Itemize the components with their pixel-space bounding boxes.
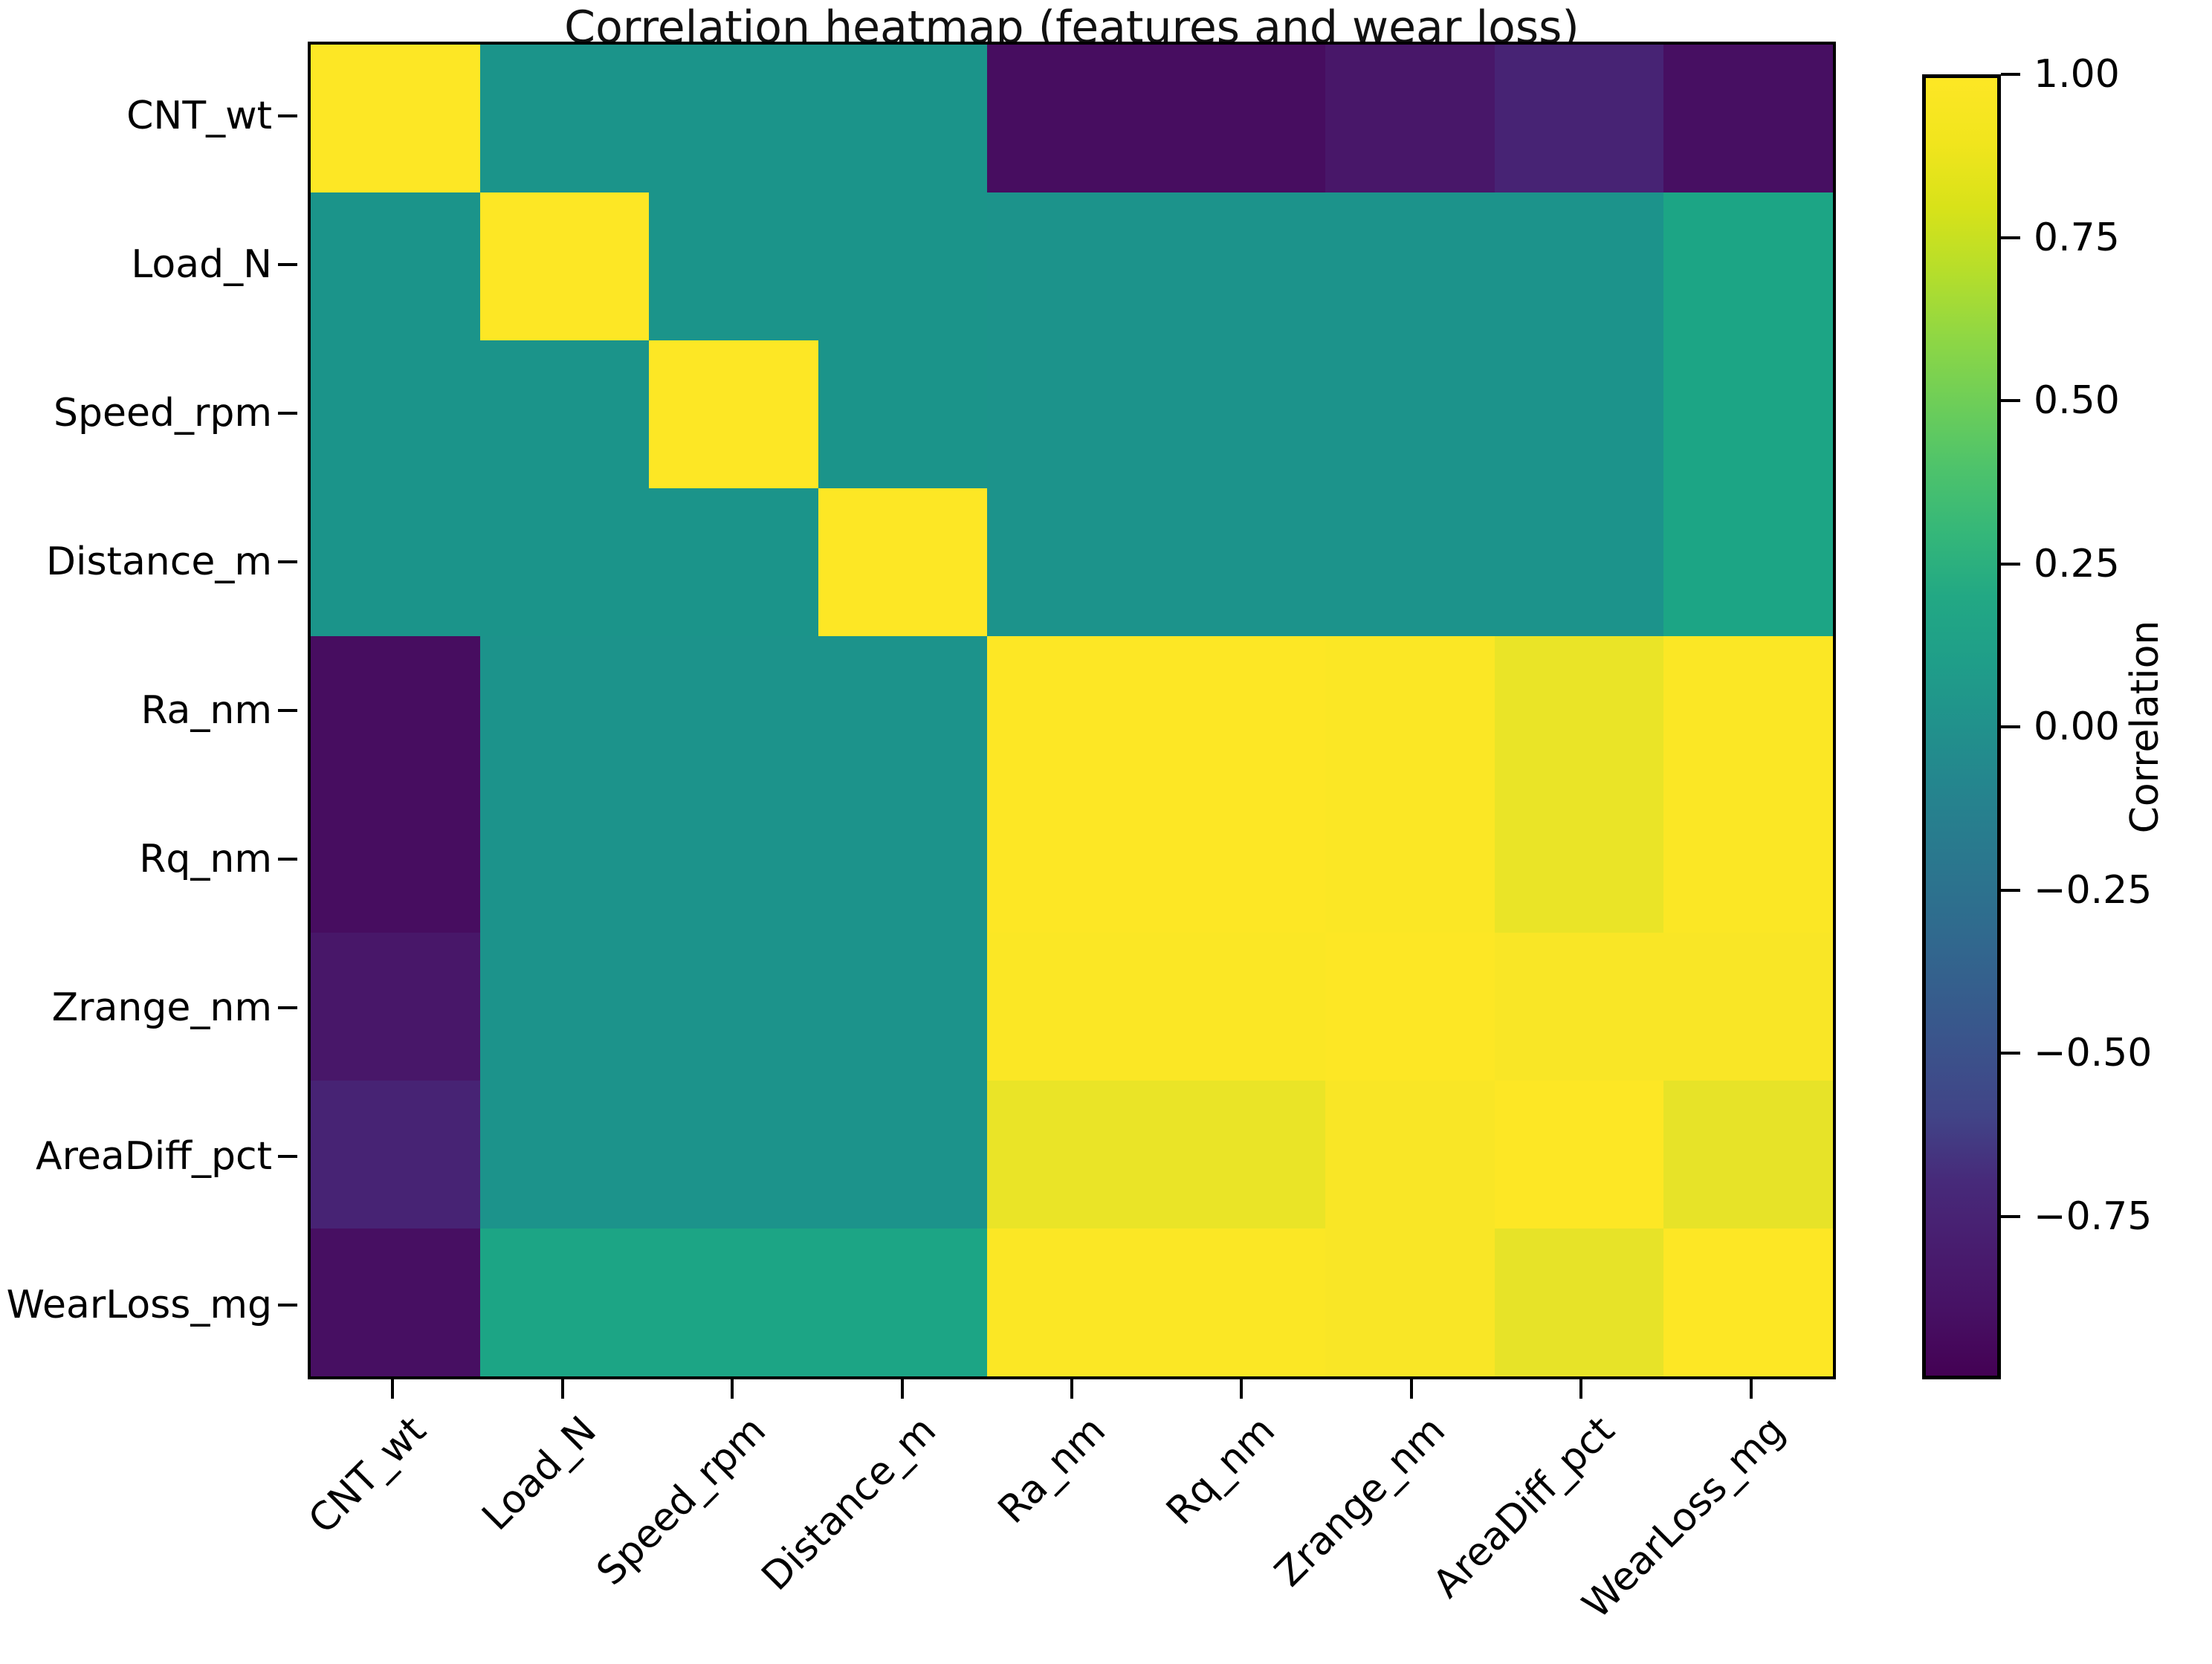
heatmap-cell [987, 192, 1157, 340]
y-tick-mark [278, 1304, 297, 1307]
colorbar-tick-label: 0.75 [2034, 217, 2120, 259]
colorbar-tick-mark [2001, 73, 2020, 76]
heatmap-cell [1325, 636, 1495, 784]
heatmap-cell [818, 636, 988, 784]
heatmap-cell [1663, 785, 1833, 933]
heatmap-cell [649, 192, 818, 340]
heatmap-cell [1325, 1081, 1495, 1228]
heatmap-cell [987, 340, 1157, 488]
colorbar-tick-label: −0.50 [2034, 1032, 2152, 1074]
x-tick-label-speed_rpm: Speed_rpm [589, 1409, 774, 1593]
x-tick-label-ra_nm: Ra_nm [991, 1409, 1113, 1531]
figure-canvas: Correlation heatmap (features and wear l… [0, 0, 2212, 1664]
heatmap-cell [818, 1081, 988, 1228]
heatmap-cell [818, 933, 988, 1081]
colorbar-gradient [1922, 74, 2001, 1379]
y-tick-label-distance_m: Distance_m [46, 541, 272, 583]
heatmap-cell [1495, 488, 1664, 636]
heatmap-cell [1495, 340, 1664, 488]
heatmap-cell [311, 488, 480, 636]
colorbar-tick-mark [2001, 725, 2020, 728]
y-tick-mark [278, 412, 297, 415]
colorbar: Correlation 1.000.750.500.250.00−0.25−0.… [1922, 74, 2212, 1382]
heatmap-cell [649, 1081, 818, 1228]
x-tick-mark [731, 1379, 734, 1399]
heatmap-cell [1157, 340, 1326, 488]
heatmap-cell [987, 933, 1157, 1081]
heatmap-cell [987, 1228, 1157, 1376]
y-tick-label-rq_nm: Rq_nm [139, 838, 272, 880]
heatmap-cell [1157, 192, 1326, 340]
x-tick-label-rq_nm: Rq_nm [1160, 1409, 1283, 1532]
heatmap-cell [480, 340, 650, 488]
x-tick-mark [1579, 1379, 1582, 1399]
y-tick-label-wearloss_mg: WearLoss_mg [7, 1284, 272, 1326]
y-tick-mark [278, 1006, 297, 1009]
heatmap-cell [1157, 785, 1326, 933]
colorbar-tick-mark [2001, 563, 2020, 566]
heatmap-cell [311, 192, 480, 340]
heatmap-cell [1663, 1081, 1833, 1228]
heatmap-cell [1495, 933, 1664, 1081]
heatmap-cell [480, 1228, 650, 1376]
heatmap-cell [480, 933, 650, 1081]
y-tick-mark [278, 560, 297, 563]
colorbar-tick-label: 1.00 [2034, 54, 2120, 95]
heatmap-cell [480, 636, 650, 784]
heatmap-cell [311, 636, 480, 784]
x-tick-label-load_n: Load_N [475, 1409, 604, 1538]
heatmap-cell [649, 1228, 818, 1376]
heatmap-cell [1157, 933, 1326, 1081]
colorbar-axis-label: Correlation [2124, 621, 2166, 834]
x-tick-mark [901, 1379, 904, 1399]
x-tick-mark [1750, 1379, 1753, 1399]
y-tick-label-speed_rpm: Speed_rpm [54, 392, 272, 434]
colorbar-tick-mark [2001, 399, 2020, 402]
colorbar-tick-label: −0.75 [2034, 1196, 2152, 1237]
heatmap-cell [311, 1228, 480, 1376]
x-tick-mark [561, 1379, 564, 1399]
x-tick-mark [1410, 1379, 1413, 1399]
y-tick-label-areadiff_pct: AreaDiff_pct [36, 1136, 272, 1177]
heatmap-cell [311, 933, 480, 1081]
heatmap-cell [649, 340, 818, 488]
x-tick-label-cnt_wt: CNT_wt [302, 1409, 434, 1541]
heatmap-cell [818, 192, 988, 340]
x-tick-mark [391, 1379, 394, 1399]
heatmap-cell [1325, 340, 1495, 488]
colorbar-tick-mark [2001, 1052, 2020, 1055]
heatmap-cell [1495, 785, 1664, 933]
heatmap-cell [1663, 636, 1833, 784]
colorbar-tick-mark [2001, 236, 2020, 239]
y-tick-label-cnt_wt: CNT_wt [126, 95, 272, 137]
y-tick-mark [278, 263, 297, 266]
heatmap-cell [311, 785, 480, 933]
heatmap-cell [311, 340, 480, 488]
heatmap-plot-area [308, 42, 1836, 1379]
heatmap-cell [649, 488, 818, 636]
heatmap-cell [649, 933, 818, 1081]
heatmap-cell [987, 1081, 1157, 1228]
y-tick-label-zrange_nm: Zrange_nm [52, 987, 272, 1029]
heatmap-cell [649, 785, 818, 933]
x-tick-label-distance_m: Distance_m [754, 1409, 944, 1599]
heatmap-cell [1157, 636, 1326, 784]
heatmap-cell [987, 636, 1157, 784]
heatmap-cell [1495, 192, 1664, 340]
heatmap-cell [1663, 192, 1833, 340]
heatmap-cell [480, 785, 650, 933]
x-tick-mark [1070, 1379, 1073, 1399]
x-axis: CNT_wtLoad_NSpeed_rpmDistance_mRa_nmRq_n… [308, 1379, 1836, 1664]
colorbar-tick-label: 0.50 [2034, 380, 2120, 421]
heatmap-cell [1325, 488, 1495, 636]
heatmap-cell [818, 1228, 988, 1376]
heatmap-cell [480, 192, 650, 340]
heatmap-cell [1325, 933, 1495, 1081]
heatmap-cell [1663, 340, 1833, 488]
heatmap-cell [987, 488, 1157, 636]
heatmap-cell [649, 45, 818, 192]
y-tick-label-ra_nm: Ra_nm [141, 690, 272, 731]
colorbar-tick-label: 0.00 [2034, 706, 2120, 748]
heatmap-cell [1325, 192, 1495, 340]
heatmap-cell [1495, 636, 1664, 784]
heatmap-cell [987, 45, 1157, 192]
heatmap-cell [818, 340, 988, 488]
heatmap-cell [1157, 1228, 1326, 1376]
colorbar-tick-label: 0.25 [2034, 543, 2120, 585]
heatmap-cell [818, 45, 988, 192]
y-tick-mark [278, 1155, 297, 1158]
heatmap-cell [818, 785, 988, 933]
heatmap-cell [311, 45, 480, 192]
y-tick-mark [278, 114, 297, 117]
y-axis: CNT_wtLoad_NSpeed_rpmDistance_mRa_nmRq_n… [0, 42, 297, 1379]
heatmap-cell [987, 785, 1157, 933]
y-tick-label-load_n: Load_N [131, 244, 272, 285]
heatmap-cell [1495, 1228, 1664, 1376]
heatmap-cell [1495, 45, 1664, 192]
colorbar-tick-mark [2001, 889, 2020, 892]
heatmap-cell [1663, 1228, 1833, 1376]
heatmap-cell [1325, 785, 1495, 933]
heatmap-cell [1663, 488, 1833, 636]
heatmap-cell [1325, 1228, 1495, 1376]
heatmap-cell [1663, 45, 1833, 192]
y-tick-mark [278, 858, 297, 861]
heatmap-cell [1157, 488, 1326, 636]
x-tick-mark [1240, 1379, 1243, 1399]
heatmap-cell [1157, 45, 1326, 192]
heatmap-cell [1157, 1081, 1326, 1228]
heatmap-cell [1663, 933, 1833, 1081]
heatmap-cell [818, 488, 988, 636]
x-tick-label-zrange_nm: Zrange_nm [1267, 1409, 1452, 1594]
y-tick-mark [278, 709, 297, 712]
heatmap-cell [649, 636, 818, 784]
heatmap-grid [311, 45, 1833, 1376]
heatmap-cell [311, 1081, 480, 1228]
colorbar-tick-label: −0.25 [2034, 870, 2152, 911]
heatmap-cell [1495, 1081, 1664, 1228]
colorbar-tick-mark [2001, 1215, 2020, 1218]
heatmap-cell [480, 488, 650, 636]
heatmap-cell [1325, 45, 1495, 192]
heatmap-cell [480, 1081, 650, 1228]
heatmap-cell [480, 45, 650, 192]
